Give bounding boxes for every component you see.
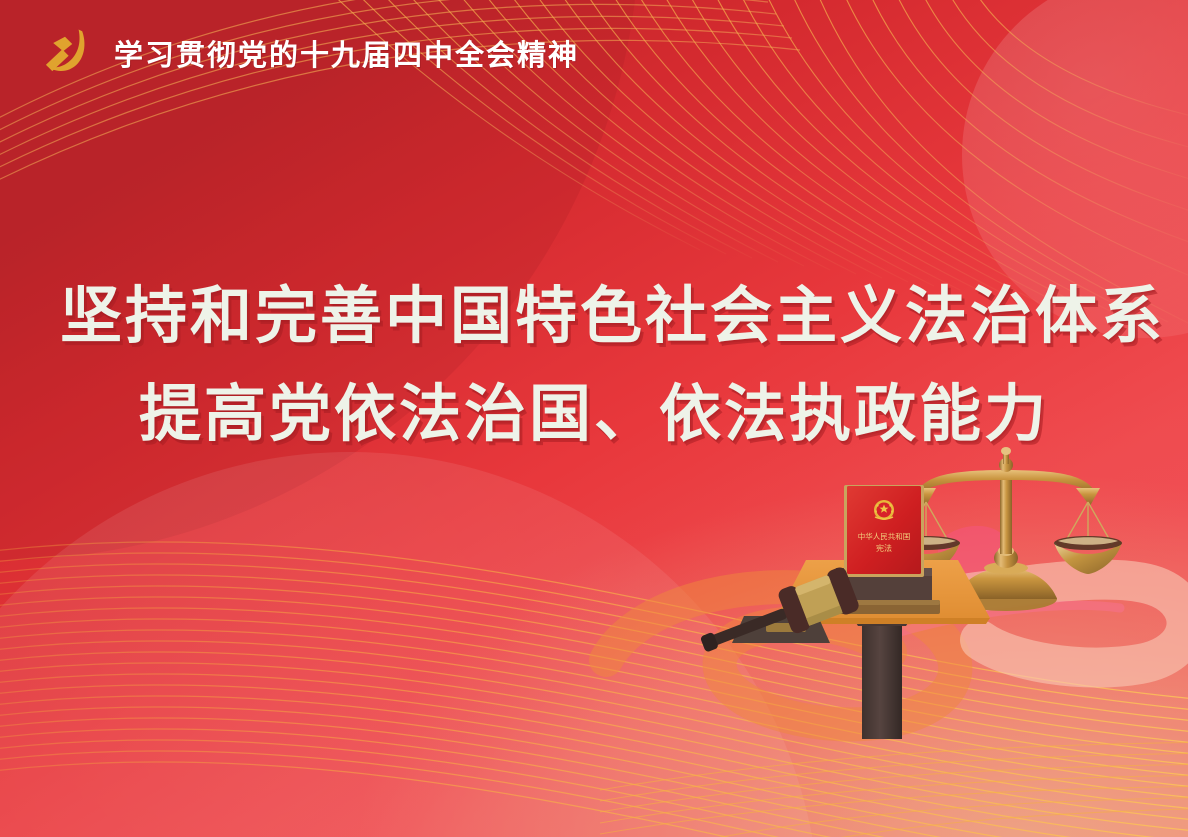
national-emblem-icon	[874, 500, 894, 520]
book-title-line-2: 宪法	[876, 543, 892, 553]
header-title: 学习贯彻党的十九届四中全会精神	[114, 32, 579, 74]
poster-canvas: 学习贯彻党的十九届四中全会精神 坚持和完善中国特色社会主义法治体系 提高党依法治…	[0, 0, 1188, 837]
constitution-book-icon: 中华人民共和国 宪法	[844, 485, 924, 577]
header-bar: 学习贯彻党的十九届四中全会精神	[0, 0, 1188, 105]
book-title-line-1: 中华人民共和国	[858, 531, 911, 541]
party-emblem-hammer-sickle-icon	[36, 24, 94, 82]
page-title: 坚持和完善中国特色社会主义法治体系 提高党依法治国、依法执政能力	[0, 268, 1188, 464]
page-title-line-1: 坚持和完善中国特色社会主义法治体系	[60, 268, 1128, 366]
rule-of-law-illustration: 中华人民共和国 宪法	[670, 440, 1188, 837]
